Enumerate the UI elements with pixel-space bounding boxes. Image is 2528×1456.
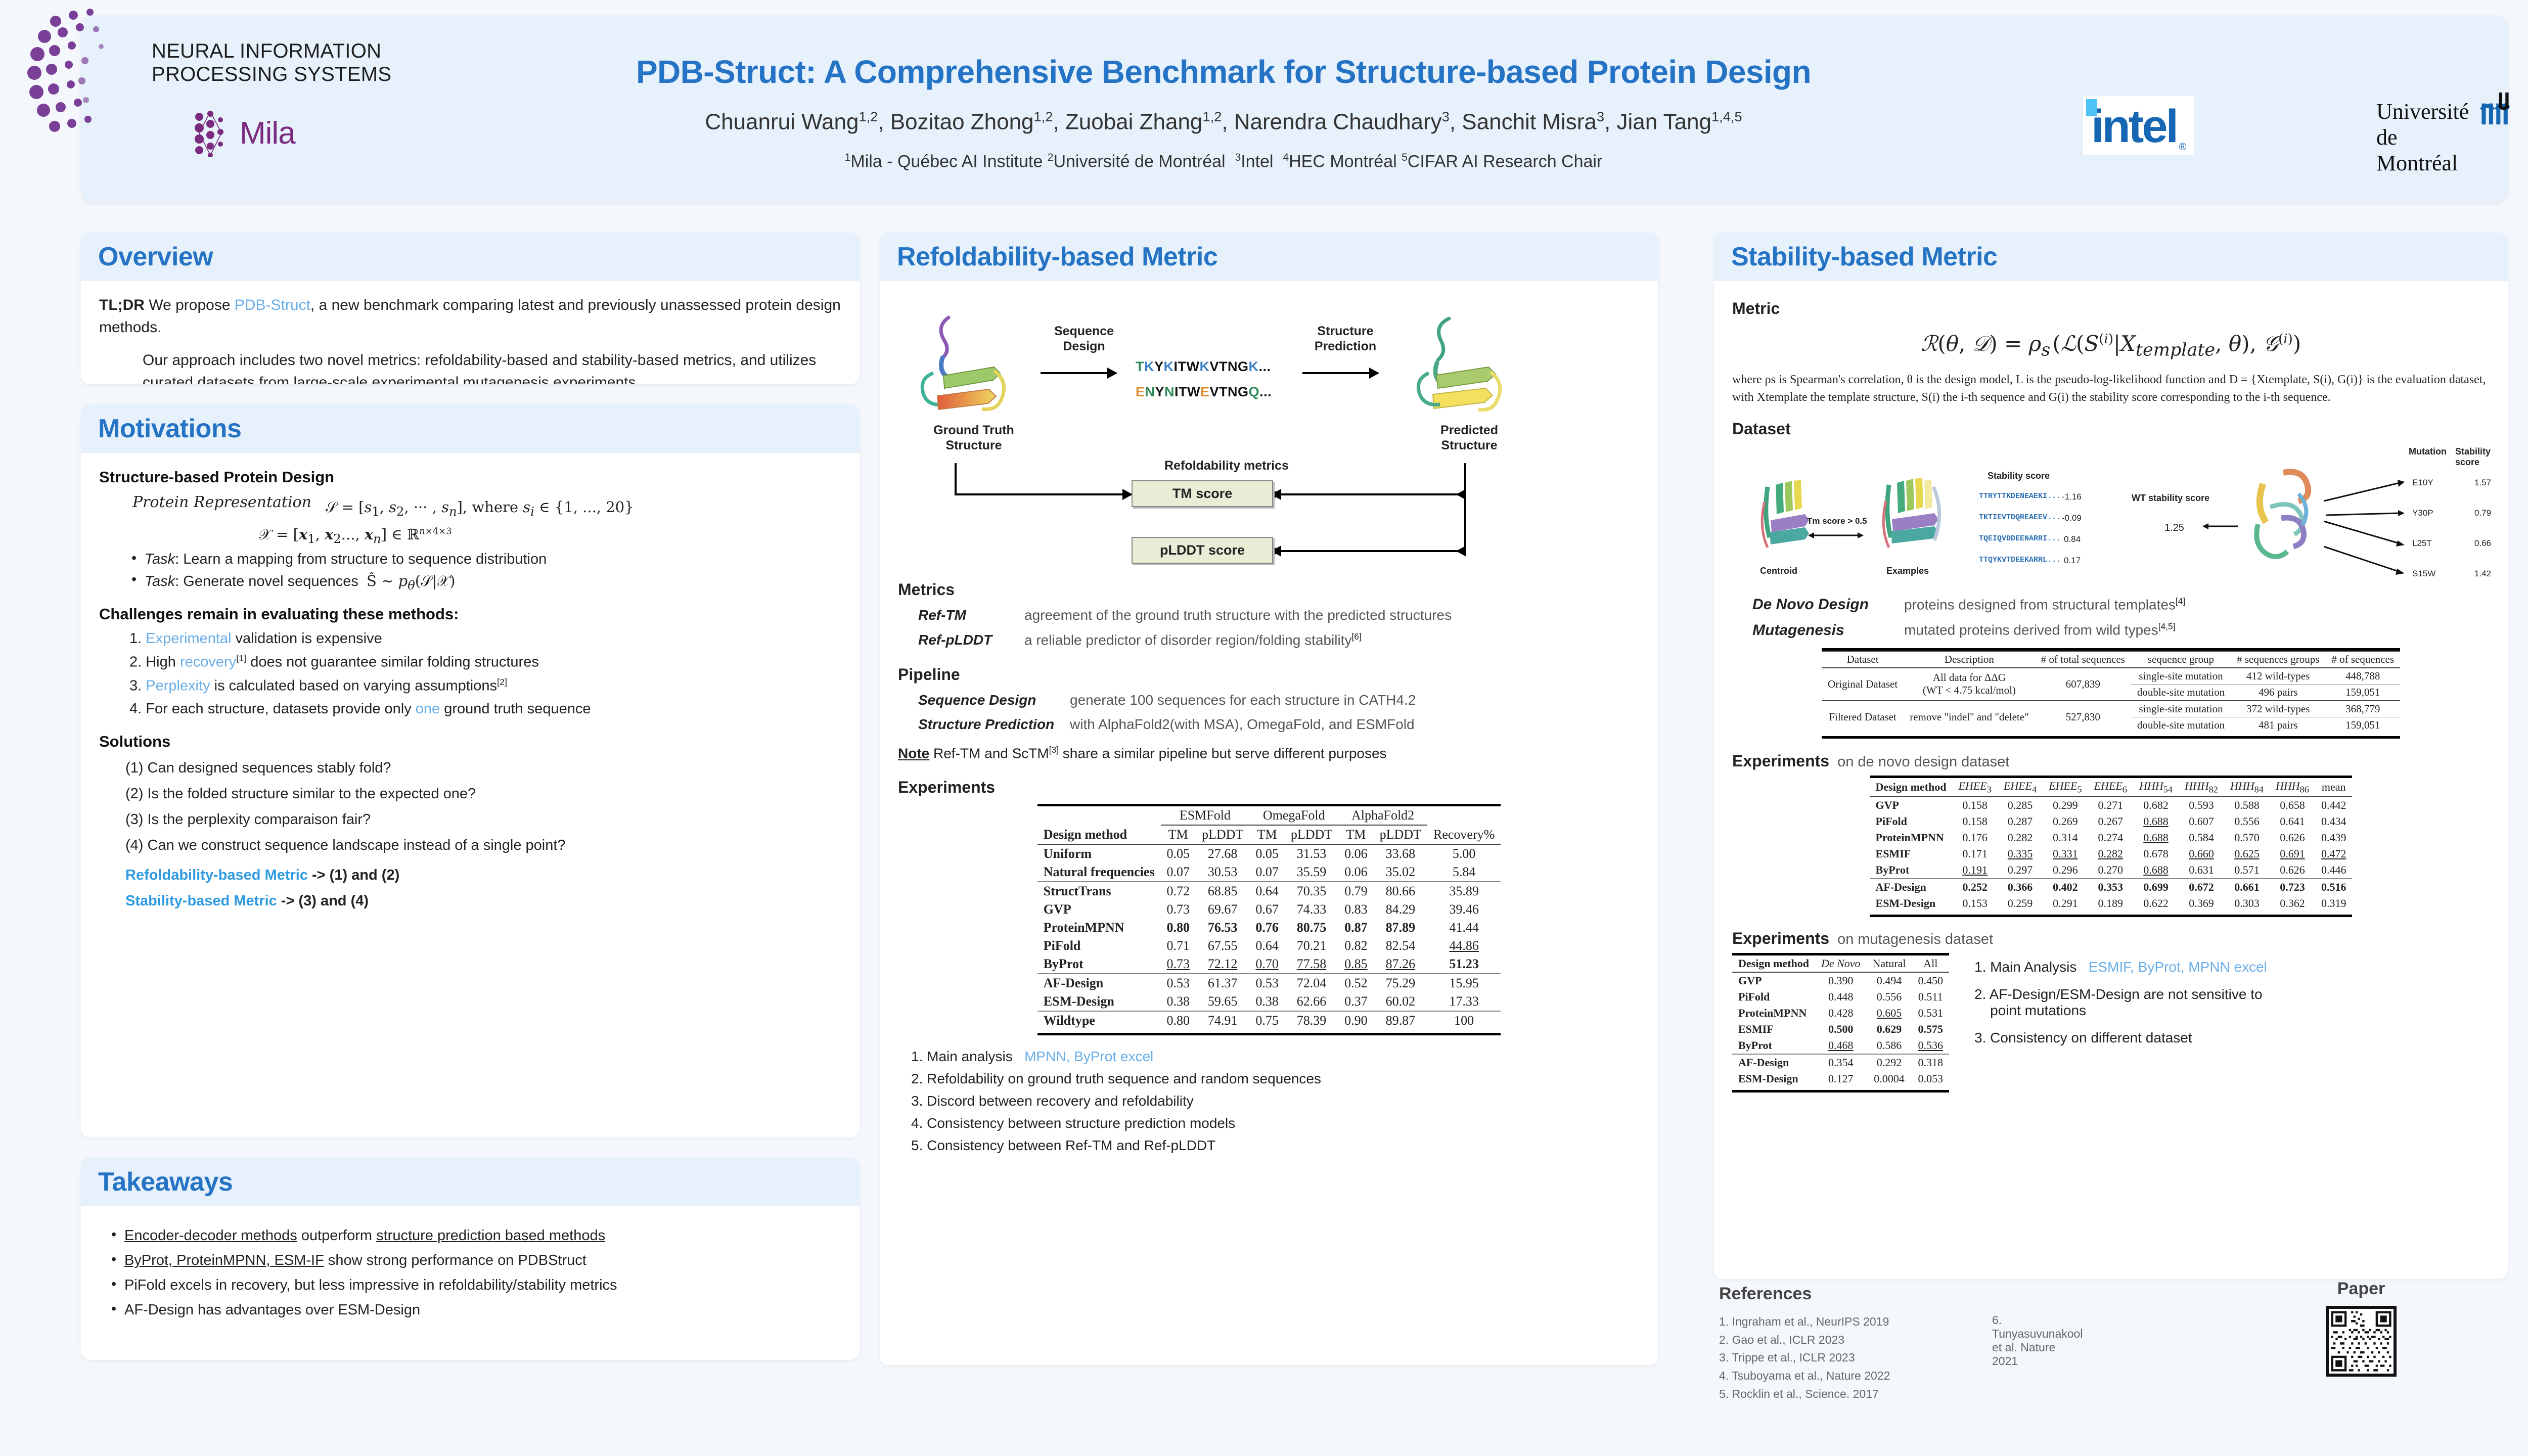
mutagenesis-results-table: Design methodDe NovoNaturalAllGVP0.3900.… [1732,953,1949,1093]
table-bottom-rule [1870,912,2353,916]
table-cell: 0.70 [1249,955,1285,974]
analysis-item: 1. Main Analysis ESMIF, ByProt, MPNN exc… [1974,959,2490,975]
table-cell: 0.158 [1952,813,1997,830]
table-col-header: EHEE5 [2043,778,2088,797]
motivations-header: Motivations [81,404,860,453]
intel-accent-bar [2086,99,2097,116]
table-row: ESMIF0.1710.3350.3310.2820.6780.6600.625… [1870,846,2353,862]
table-row: AF-Design0.3540.2920.318 [1732,1054,1949,1071]
table-cell: 0.622 [2133,895,2179,912]
mutation-3: L25T [2412,538,2432,549]
table-col-header: HHH82 [2179,778,2224,797]
example-val-2: -0.09 [2062,513,2082,523]
mutation-4-score: 1.42 [2474,569,2491,579]
table-cell: 0.319 [2315,895,2353,912]
group-count: 412 wild-types [2231,668,2325,685]
tldr-pre: We propose [149,297,235,313]
table-cell: 0.76 [1249,919,1285,937]
analysis-item: 2. AF-Design/ESM-Design are not sensitiv… [1974,986,2490,1019]
table-cell: 72.04 [1285,974,1338,992]
table-row: GVP0.1580.2850.2990.2710.6820.5930.5880.… [1870,797,2353,813]
table-cell: 0.153 [1952,895,1997,912]
intel-wordmark: intel [2091,101,2177,152]
row-label: ByProt [1732,1037,1815,1054]
table-cell: 0.0004 [1867,1071,1912,1087]
table-row: PiFold0.7167.550.6470.210.8282.5444.86 [1037,937,1501,955]
table-cell: 0.73 [1161,955,1196,974]
table-cell: 0.285 [1998,797,2043,813]
row-label: ESM-Design [1037,992,1161,1011]
takeaways-title: Takeaways [98,1167,842,1197]
sequence-group: single-site mutation [2131,668,2231,685]
row-label: GVP [1732,972,1815,989]
table-cell: 0.67 [1249,900,1285,919]
solution-item: (2) Is the folded structure similar to t… [125,786,841,802]
table-cell: 0.571 [2224,862,2270,879]
table-cell: 87.89 [1374,919,1427,937]
table-row: ByProt0.1910.2970.2960.2700.6880.6310.57… [1870,862,2353,879]
sequence-group: double-site mutation [2131,717,2231,733]
table-cell: 0.688 [2133,813,2179,830]
sequence-count: 159,051 [2325,717,2400,733]
sequence-count: 448,788 [2325,668,2400,685]
table-cell: 0.53 [1249,974,1285,992]
sequence-group: single-site mutation [2131,701,2231,717]
table-cell: 0.52 [1338,974,1374,992]
example-seq-1: TTRYTTKDENEAEKI... [1979,492,2061,500]
table-col-header: mean [2315,778,2353,797]
table-cell: 0.678 [2133,846,2179,862]
col-tm: TM [1161,825,1196,844]
refoldability-header: Refoldability-based Metric [880,233,1658,281]
mutation-col-header: Mutation [2409,446,2447,457]
table-cell: 0.331 [2043,846,2088,862]
row-label: Uniform [1037,844,1161,863]
takeaway-item: ByProt, ProteinMPNN, ESM-IF show strong … [111,1252,841,1269]
stability-formula: ℛ(θ, 𝒟) = ρs (ℒ(S(i)|Xtemplate, θ), 𝒢(i)… [1732,331,2490,360]
row-label: PiFold [1870,813,1953,830]
mila-wordmark: Mila [240,115,295,151]
table-cell: 0.353 [2088,879,2133,895]
stability-metric-heading: Metric [1732,299,2490,318]
table-cell: 0.75 [1249,1011,1285,1030]
bracket-left-vert [955,463,957,494]
stability-analysis-list: 1. Main Analysis ESMIF, ByProt, MPNN exc… [1974,953,2490,1052]
metric-ref-tm-desc: agreement of the ground truth structure … [1024,607,1452,623]
row-label: ByProt [1870,862,1953,879]
col-group-esmfold: ESMFold [1161,806,1250,825]
table-col-header: HHH86 [2270,778,2315,797]
pipeline-note: Note Ref-TM and ScTM[3] share a similar … [898,745,1640,761]
table-cell: 0.171 [1952,846,1997,862]
col-tm: TM [1249,825,1285,844]
udem-mark-icon [2479,89,2523,133]
table-cell: 0.64 [1249,882,1285,900]
challenge-item: 1. Experimental validation is expensive [129,630,841,647]
metric-ref-tm: Ref-TMagreement of the ground truth stru… [918,607,1640,623]
table-bottom-rule [1037,1030,1501,1034]
table-cell: 0.500 [1815,1021,1867,1037]
stability-body: Metric ℛ(θ, 𝒟) = ρs (ℒ(S(i)|Xtemplate, θ… [1714,281,2508,1106]
table-cell: 0.354 [1815,1054,1867,1071]
row-label: AF-Design [1870,879,1953,895]
challenge-item: 3. Perplexity is calculated based on var… [129,677,841,695]
exp-denovo-title: Experiments [1732,752,1829,770]
table-bottom-rule [1732,1087,1949,1091]
mutation-1-score: 1.57 [2474,478,2491,488]
wt-arrow [2202,521,2238,531]
mutation-2: Y30P [2412,508,2433,518]
table-cell: 0.314 [2043,830,2088,846]
plddt-score-box: pLDDT score [1132,537,1273,564]
sequence-line-1: TKYKITWKVTNGK... [1136,359,1271,375]
exp-mut-note: on mutagenesis dataset [1837,931,1993,947]
table-cell: 70.21 [1285,937,1338,955]
table-cell: 15.95 [1427,974,1501,992]
table-cell: 41.44 [1427,919,1501,937]
table-col-header: Dataset [1822,651,1904,668]
table-cell: 84.29 [1374,900,1427,919]
table-cell: 0.448 [1815,989,1867,1005]
table-cell: 0.291 [2043,895,2088,912]
table-cell: 0.660 [2179,846,2224,862]
poster-header: NEURAL INFORMATION PROCESSING SYSTEMS Mi… [81,15,2508,202]
refold-metric-targets: -> (1) and (2) [308,867,399,883]
challenge-item: 4. For each structure, datasets provide … [129,701,841,717]
exp-denovo-heading: Experimentson de novo design dataset [1732,752,2490,770]
challenges-heading: Challenges remain in evaluating these me… [99,605,841,623]
table-cell: 0.688 [2133,830,2179,846]
stability-metric-label: Stability-based Metric [125,893,277,909]
solutions-list: (1) Can designed sequences stably fold? … [125,760,841,909]
table-col-header: HHH84 [2224,778,2270,797]
author-list: Chuanrui Wang1,2, Bozitao Zhong1,2, Zuob… [465,109,1982,135]
stability-metric-targets: -> (3) and (4) [277,893,369,909]
table-col-header: Design method [1732,955,1815,972]
table-col-header: EHEE6 [2088,778,2133,797]
analysis-item: 1. Main analysis MPNN, ByProt excel [911,1049,1640,1065]
sequence-count: 368,779 [2325,701,2400,717]
note-label: Note [898,746,929,761]
table-cell: 0.335 [1998,846,2043,862]
paper-qr-block[interactable]: Paper [2326,1279,2397,1377]
example-val-4: 0.17 [2064,556,2081,566]
table-col-header: # sequences groups [2231,651,2325,668]
challenge-item: 2. High recovery[1] does not guarantee s… [129,653,841,671]
table-row: Original DatasetAll data for ΔΔG(WT < 4.… [1822,668,2400,685]
centroid-label: Centroid [1760,566,1797,576]
sequence-line-2: ENYNITWEVTNGQ... [1136,384,1272,400]
paper-qr-code[interactable] [2326,1306,2397,1377]
refoldability-diagram: Ground TruthStructure SequenceDesign TKY… [898,297,1640,515]
def-mutagenesis-name: Mutagenesis [1752,622,1904,639]
table-cell: 61.37 [1196,974,1249,992]
formula-coordinates: 𝒳 = [x1, x2..., xn] ∈ ℝn×4×3 [259,526,841,546]
affiliation-list: 1Mila - Québec AI Institute 2Université … [465,152,1982,171]
table-row: Uniform0.0527.680.0531.530.0633.685.00 [1037,844,1501,863]
table-cell: 0.83 [1338,900,1374,919]
table-row: ProteinMPNN0.4280.6050.531 [1732,1005,1949,1021]
table-cell: 0.80 [1161,919,1196,937]
takeaways-body: Encoder-decoder methods outperform struc… [81,1206,860,1340]
table-cell: 27.68 [1196,844,1249,863]
table-cell: 0.297 [1998,862,2043,879]
table-col-header: # of sequences [2325,651,2400,668]
sequence-count: 159,051 [2325,684,2400,701]
table-cell: 0.593 [2179,797,2224,813]
exp-mut-heading: Experimentson mutagenesis dataset [1732,929,2490,948]
table-cell: 74.33 [1285,900,1338,919]
row-label: ProteinMPNN [1037,919,1161,937]
predicted-structure-label: PredictedStructure [1414,423,1525,453]
table-cell: 0.511 [1912,989,1950,1005]
table-col-header: Natural [1867,955,1912,972]
table-cell: 0.625 [2224,846,2270,862]
mila-logo: Mila [192,109,295,157]
takeaways-list: Encoder-decoder methods outperform struc… [111,1227,841,1318]
table-cell: 0.259 [1998,895,2043,912]
de-novo-results-table: Design methodEHEE3EHEE4EHEE5EHEE6HHH54HH… [1870,776,2353,917]
table-col-header: Description [1904,651,2035,668]
references-heading: References [1719,1284,1890,1304]
table-row: PiFold0.1580.2870.2690.2670.6880.6070.55… [1870,813,2353,830]
note-pre: Ref-TM and ScTM [933,746,1049,761]
predicted-structure-icon [1409,312,1525,419]
table-header-row: Design methodDe NovoNaturalAll [1732,955,1949,972]
qr-code-icon [2329,1309,2394,1374]
table-cell: 0.06 [1338,844,1374,863]
analysis-item: 2. Refoldability on ground truth sequenc… [911,1071,1640,1087]
table-row: ByProt0.7372.120.7077.580.8587.2651.23 [1037,955,1501,974]
table-header-row: Design methodESMFoldOmegaFoldAlphaFold2R… [1037,806,1501,825]
refoldability-body: Ground TruthStructure SequenceDesign TKY… [880,281,1658,1173]
table-cell: 0.252 [1952,879,1997,895]
solutions-heading: Solutions [99,733,841,751]
table-cell: 0.72 [1161,882,1196,900]
example-seq-2: TKTIEVTDQREAEEV... [1979,513,2061,522]
table-cell: 0.189 [2088,895,2133,912]
table-cell: 74.91 [1196,1011,1249,1030]
formula-sequence: 𝒮 = [s1, s2, ··· , sn], where si ∈ {1, .… [326,498,634,519]
pipeline-structure-prediction: Structure Predictionwith AlphaFold2(with… [918,716,1640,733]
solution-item: (4) Can we construct sequence landscape … [125,837,841,854]
table-cell: 0.79 [1338,882,1374,900]
table-row: ByProt0.4680.5860.536 [1732,1037,1949,1054]
dataset-total: 527,830 [2035,701,2131,733]
table-cell: 82.54 [1374,937,1427,955]
table-cell: 0.691 [2270,846,2315,862]
wt-stability-label: WT stability score [2132,493,2209,504]
table-row: ProteinMPNN0.1760.2820.3140.2740.6880.58… [1870,830,2353,846]
table-cell: 30.53 [1196,863,1249,882]
overview-paragraph-2: Our approach includes two novel metrics:… [143,349,841,384]
stability-card: Stability-based Metric Metric ℛ(θ, 𝒟) = … [1714,233,2508,1279]
metrics-heading: Metrics [898,580,1640,599]
tm-gate-label: Tm score > 0.5 [1807,516,1867,526]
table-row: ProteinMPNN0.8076.530.7680.750.8787.8941… [1037,919,1501,937]
table-cell: 68.85 [1196,882,1249,900]
table-cell: 69.67 [1196,900,1249,919]
table-cell: 0.06 [1338,863,1374,882]
solution-item: (3) Is the perplexity comparaison fair? [125,811,841,828]
table-cell: 0.626 [2270,862,2315,879]
table-row: PiFold0.4480.5560.511 [1732,989,1949,1005]
table-cell: 0.402 [2043,879,2088,895]
sequence-design-arrow [1041,372,1116,374]
row-label: Natural frequencies [1037,863,1161,882]
examples-structures-icon [1874,470,1970,561]
table-row: GVP0.7369.670.6774.330.8384.2939.46 [1037,900,1501,919]
table-cell: 0.274 [2088,830,2133,846]
table-cell: 67.55 [1196,937,1249,955]
bracket-right-arrow-tm [1272,493,1465,495]
reference-item: 2. Gao et al., ICLR 2023 [1719,1331,1890,1349]
table-row: StructTrans0.7268.850.6470.350.7980.6635… [1037,882,1501,900]
refoldability-results-table: Design methodESMFoldOmegaFoldAlphaFold2R… [1037,804,1501,1035]
pipeline-struct-name: Structure Prediction [918,716,1070,733]
table-cell: 0.626 [2270,830,2315,846]
centroid-structure-icon [1752,472,1828,558]
table-col-header: All [1912,955,1950,972]
table-cell: 0.586 [1867,1037,1912,1054]
dataset-description: remove "indel" and "delete" [1904,701,2035,733]
refoldability-card: Refoldability-based Metric Ground TruthS… [880,233,1658,1365]
table-cell: 0.362 [2270,895,2315,912]
exp-mut-title: Experiments [1732,929,1829,947]
table-cell: 0.73 [1161,900,1196,919]
note-sup: [3] [1049,745,1059,755]
pipeline-seq-name: Sequence Design [918,692,1070,708]
table-cell: 89.87 [1374,1011,1427,1030]
overview-body: TL;DR We propose PDB-Struct, a new bench… [81,281,860,384]
row-label: PiFold [1732,989,1815,1005]
table-cell: 0.575 [1912,1021,1950,1037]
table-cell: 0.05 [1249,844,1285,863]
table-cell: 44.86 [1427,937,1501,955]
task-item: Task: Generate novel sequences Ŝ ∼ pθ(𝒮|… [131,572,841,593]
table-cell: 0.07 [1161,863,1196,882]
structure-prediction-arrow [1302,372,1378,374]
row-label: Wildtype [1037,1011,1161,1030]
row-label: GVP [1037,900,1161,919]
table-cell: 0.270 [2088,862,2133,879]
table-row: Filtered Datasetremove "indel" and "dele… [1822,701,2400,717]
metric-ref-plddt-sup: [6] [1351,631,1361,642]
mutation-score-col-header: Stability score [2455,446,2491,468]
takeaway-item: Encoder-decoder methods outperform struc… [111,1227,841,1244]
metric-ref-plddt-desc: a reliable predictor of disorder region/… [1024,632,1351,648]
refold-metric-label: Refoldability-based Metric [125,867,308,883]
example-val-3: 0.84 [2064,534,2081,544]
references-column-2: 6. Tunyasuvunakool et al. Nature 2021 [1992,1313,2083,1368]
table-cell: 0.672 [2179,879,2224,895]
solution-item: (1) Can designed sequences stably fold? [125,760,841,777]
def-de-novo-name: De Novo Design [1752,596,1904,613]
table-row: ESMIF0.5000.6290.575 [1732,1021,1949,1037]
col-tm: TM [1338,825,1374,844]
table-cell: 5.00 [1427,844,1501,863]
def-mutagenesis: Mutagenesismutated proteins derived from… [1752,621,2490,639]
table-cell: 62.66 [1285,992,1338,1011]
table-cell: 0.584 [2179,830,2224,846]
intel-logo: intel ® [2083,96,2194,155]
group-count: 481 pairs [2231,717,2325,733]
poster-title: PDB-Struct: A Comprehensive Benchmark fo… [465,53,1982,90]
col-plddt: pLDDT [1196,825,1249,844]
examples-label: Examples [1886,566,1929,576]
row-label: ByProt [1037,955,1161,974]
table-col-header: EHEE3 [1952,778,1997,797]
metric-ref-plddt: Ref-pLDDTa reliable predictor of disorde… [918,631,1640,648]
table-cell: 0.176 [1952,830,1997,846]
analysis-item: 4. Consistency between structure predict… [911,1115,1640,1131]
reference-item: 3. Trippe et al., ICLR 2023 [1719,1349,1890,1367]
bracket-right-vert [1464,463,1466,554]
dataset-total: 607,839 [2035,668,2131,701]
reference-item: 5. Rocklin et al., Science. 2017 [1719,1385,1890,1403]
takeaways-card: Takeaways Encoder-decoder methods outper… [81,1158,860,1360]
motivations-card: Motivations Structure-based Protein Desi… [81,404,860,1137]
stability-score-col-label: Stability score [1988,471,2050,481]
table-cell: 0.07 [1249,863,1285,882]
row-label: GVP [1870,797,1953,813]
dataset-summary-table: DatasetDescription# of total sequencesse… [1822,648,2400,739]
table-cell: 0.450 [1912,972,1950,989]
table-cell: 0.292 [1867,1054,1912,1071]
table-cell: 0.64 [1249,937,1285,955]
stability-header: Stability-based Metric [1714,233,2508,281]
table-bottom-rule [1822,733,2400,738]
example-val-1: -1.16 [2062,492,2082,502]
table-cell: 80.66 [1374,882,1427,900]
neurips-label: NEURAL INFORMATION PROCESSING SYSTEMS [152,39,415,86]
table-cell: 35.59 [1285,863,1338,882]
group-count: 496 pairs [2231,684,2325,701]
table-cell: 72.12 [1196,955,1249,974]
exp-denovo-note: on de novo design dataset [1837,754,2009,770]
table-cell: 0.53 [1161,974,1196,992]
table-cell: 87.26 [1374,955,1427,974]
table-cell: 0.556 [1867,989,1912,1005]
udem-line-2: de Montréal [2376,124,2474,176]
motivations-body: Structure-based Protein Design Protein R… [81,453,860,932]
dataset-heading: Dataset [1732,420,2490,438]
table-cell: 0.536 [1912,1037,1950,1054]
table-row: Wildtype0.8074.910.7578.390.9089.87100 [1037,1011,1501,1030]
stability-formula-explanation: where ρs is Spearman's correlation, θ is… [1732,371,2490,406]
table-cell: 0.468 [1815,1037,1867,1054]
table-cell: 0.158 [1952,797,1997,813]
table-cell: 0.127 [1815,1071,1867,1087]
table-cell: 0.570 [2224,830,2270,846]
table-cell: 5.84 [1427,863,1501,882]
def-de-novo-desc: proteins designed from structural templa… [1904,597,2176,612]
mutation-4: S15W [2412,569,2435,579]
table-col-header: EHEE4 [1998,778,2043,797]
table-row: ESM-Design0.1270.00040.053 [1732,1071,1949,1087]
table-cell: 0.87 [1338,919,1374,937]
table-cell: 0.366 [1998,879,2043,895]
row-label: AF-Design [1037,974,1161,992]
task-item: Task: Learn a mapping from structure to … [131,551,841,568]
row-label: ProteinMPNN [1870,830,1953,846]
tm-score-box: TM score [1132,480,1273,507]
group-count: 372 wild-types [2231,701,2325,717]
table-cell: 0.299 [2043,797,2088,813]
table-row: ESM-Design0.1530.2590.2910.1890.6220.369… [1870,895,2353,912]
table-cell: 51.23 [1427,955,1501,974]
table-cell: 80.75 [1285,919,1338,937]
